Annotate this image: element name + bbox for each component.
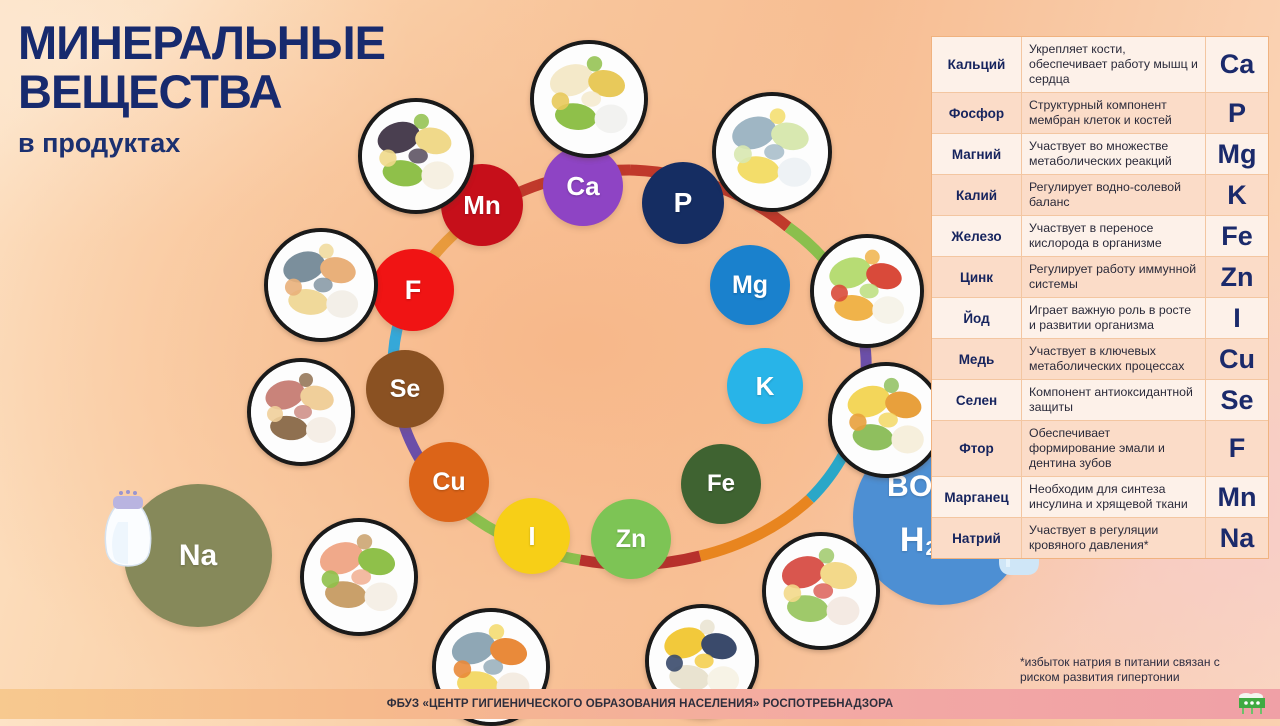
plate-fluorine[interactable] xyxy=(264,228,378,342)
mineral-symbol: Na xyxy=(1206,518,1268,558)
element-symbol-cu: Cu xyxy=(432,468,465,497)
element-symbol-fe: Fe xyxy=(707,470,735,498)
element-symbol-i: I xyxy=(528,521,535,552)
mineral-description: Участвует в переносе кислорода в организ… xyxy=(1022,216,1206,256)
green-building-logo xyxy=(1232,692,1272,716)
plate-phosphor[interactable] xyxy=(712,92,832,212)
element-symbol-na: Na xyxy=(179,539,217,573)
mineral-symbol: K xyxy=(1206,175,1268,215)
mineral-name: Селен xyxy=(932,380,1022,420)
table-row: МедьУчаствует в ключевых метаболических … xyxy=(932,339,1268,380)
table-row: ФосфорСтруктурный компонент мембран клет… xyxy=(932,93,1268,134)
mineral-description: Играет важную роль в росте и развитии ор… xyxy=(1022,298,1206,338)
title-line-1: МИНЕРАЛЬНЫЕ xyxy=(18,18,385,67)
element-symbol-k: K xyxy=(756,371,775,402)
table-row: МагнийУчаствует во множестве метаболичес… xyxy=(932,134,1268,175)
mineral-name: Цинк xyxy=(932,257,1022,297)
salt-shaker-icon xyxy=(98,486,158,570)
table-row: ЖелезоУчаствует в переносе кислорода в о… xyxy=(932,216,1268,257)
mineral-description: Участвует во множестве метаболических ре… xyxy=(1022,134,1206,174)
element-bubble-zn[interactable]: Zn xyxy=(591,499,671,579)
mineral-name: Фосфор xyxy=(932,93,1022,133)
mineral-name: Марганец xyxy=(932,477,1022,517)
element-symbol-ca: Ca xyxy=(566,171,599,202)
mineral-symbol: Mn xyxy=(1206,477,1268,517)
element-symbol-p: P xyxy=(674,187,693,219)
mineral-name: Медь xyxy=(932,339,1022,379)
table-row: ФторОбеспечивает формирование эмали и де… xyxy=(932,421,1268,477)
table-row: ЦинкРегулирует работу иммунной системыZn xyxy=(932,257,1268,298)
plate-magnesium[interactable] xyxy=(810,234,924,348)
table-row: КалийРегулирует водно-солевой балансK xyxy=(932,175,1268,216)
minerals-table: КальцийУкрепляет кости, обеспечивает раб… xyxy=(931,36,1269,559)
element-bubble-i[interactable]: I xyxy=(494,498,570,574)
plate-iron[interactable] xyxy=(762,532,880,650)
mineral-name: Фтор xyxy=(932,421,1022,476)
table-row: КальцийУкрепляет кости, обеспечивает раб… xyxy=(932,37,1268,93)
plate-copper[interactable] xyxy=(300,518,418,636)
element-bubble-mg[interactable]: Mg xyxy=(710,245,790,325)
mineral-symbol: I xyxy=(1206,298,1268,338)
element-symbol-mn: Mn xyxy=(463,190,501,221)
plate-calcium[interactable] xyxy=(530,40,648,158)
mineral-symbol: Zn xyxy=(1206,257,1268,297)
title-subtitle: в продуктах xyxy=(18,128,385,158)
mineral-name: Йод xyxy=(932,298,1022,338)
mineral-symbol: Mg xyxy=(1206,134,1268,174)
footer-text: ФБУЗ «ЦЕНТР ГИГИЕНИЧЕСКОГО ОБРАЗОВАНИЯ Н… xyxy=(387,698,894,710)
plate-selenium[interactable] xyxy=(247,358,355,466)
element-bubble-ca[interactable]: Ca xyxy=(543,146,623,226)
table-row: ЙодИграет важную роль в росте и развитии… xyxy=(932,298,1268,339)
plate-manganese[interactable] xyxy=(358,98,474,214)
footer-bar: ФБУЗ «ЦЕНТР ГИГИЕНИЧЕСКОГО ОБРАЗОВАНИЯ Н… xyxy=(0,689,1280,719)
mineral-name: Кальций xyxy=(932,37,1022,92)
element-symbol-se: Se xyxy=(390,375,421,404)
mineral-name: Магний xyxy=(932,134,1022,174)
mineral-description: Структурный компонент мембран клеток и к… xyxy=(1022,93,1206,133)
table-footnote: *избыток натрия в питании связан с риско… xyxy=(1020,655,1260,685)
mineral-description: Регулирует водно-солевой баланс xyxy=(1022,175,1206,215)
mineral-symbol: P xyxy=(1206,93,1268,133)
element-bubble-se[interactable]: Se xyxy=(366,350,444,428)
element-bubble-f[interactable]: F xyxy=(372,249,454,331)
mineral-name: Натрий xyxy=(932,518,1022,558)
mineral-name: Железо xyxy=(932,216,1022,256)
element-bubble-k[interactable]: K xyxy=(727,348,803,424)
mineral-description: Компонент антиоксидантной защиты xyxy=(1022,380,1206,420)
page-title: МИНЕРАЛЬНЫЕ ВЕЩЕСТВА в продуктах xyxy=(18,18,385,158)
mineral-symbol: Cu xyxy=(1206,339,1268,379)
element-symbol-zn: Zn xyxy=(616,525,647,554)
mineral-description: Участвует в регуляции кровяного давления… xyxy=(1022,518,1206,558)
title-line-2: ВЕЩЕСТВА xyxy=(18,67,385,116)
mineral-description: Регулирует работу иммунной системы xyxy=(1022,257,1206,297)
element-symbol-f: F xyxy=(405,275,422,306)
table-row: НатрийУчаствует в регуляции кровяного да… xyxy=(932,518,1268,558)
plate-potassium[interactable] xyxy=(828,362,944,478)
mineral-description: Укрепляет кости, обеспечивает работу мыш… xyxy=(1022,37,1206,92)
mineral-symbol: Se xyxy=(1206,380,1268,420)
mineral-symbol: Fe xyxy=(1206,216,1268,256)
element-bubble-p[interactable]: P xyxy=(642,162,724,244)
element-symbol-mg: Mg xyxy=(732,271,768,300)
mineral-description: Обеспечивает формирование эмали и дентин… xyxy=(1022,421,1206,476)
element-bubble-fe[interactable]: Fe xyxy=(681,444,761,524)
table-row: СеленКомпонент антиоксидантной защитыSe xyxy=(932,380,1268,421)
mineral-name: Калий xyxy=(932,175,1022,215)
mineral-symbol: Ca xyxy=(1206,37,1268,92)
element-bubble-cu[interactable]: Cu xyxy=(409,442,489,522)
table-row: МарганецНеобходим для синтеза инсулина и… xyxy=(932,477,1268,518)
mineral-description: Необходим для синтеза инсулина и хрящево… xyxy=(1022,477,1206,517)
mineral-symbol: F xyxy=(1206,421,1268,476)
mineral-description: Участвует в ключевых метаболических проц… xyxy=(1022,339,1206,379)
